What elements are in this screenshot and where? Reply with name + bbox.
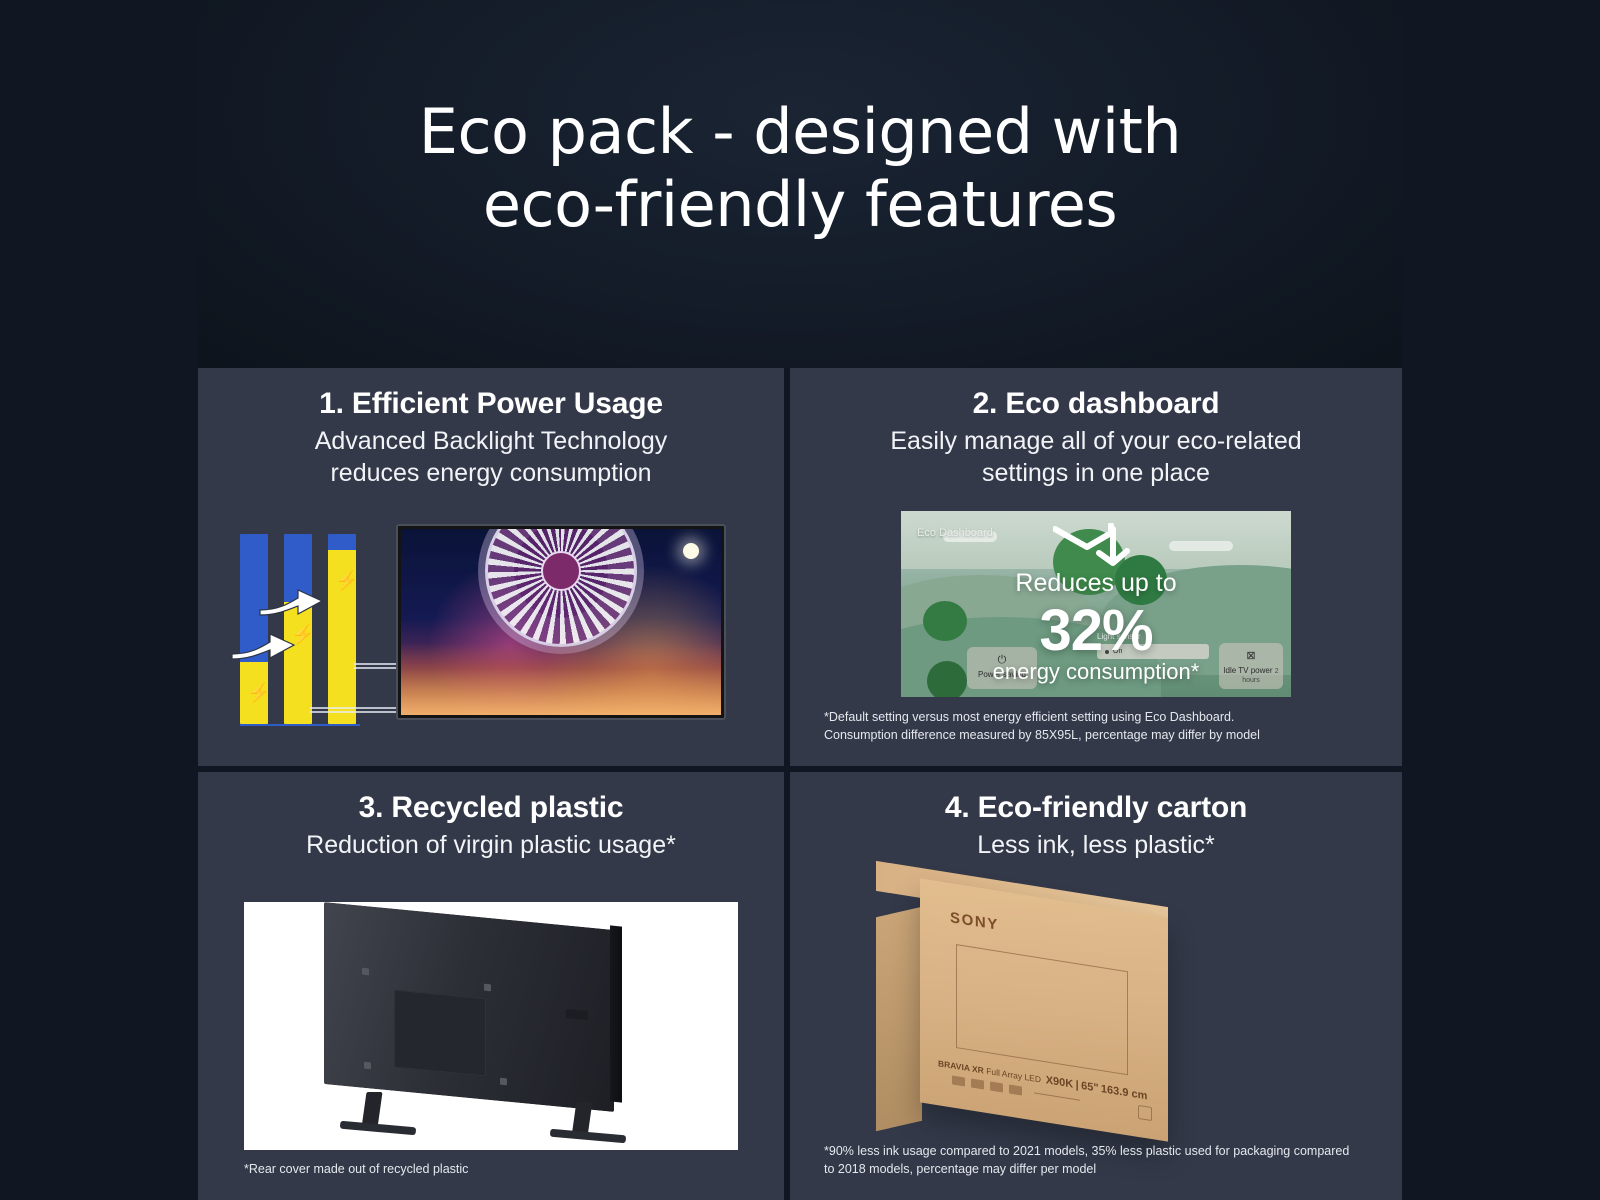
panel-3-title: 3. Recycled plastic (198, 790, 784, 826)
certification-icon (971, 1078, 984, 1089)
panel-2-subtitle-line-2: settings in one place (982, 459, 1210, 487)
eco-dashboard-screenshot: Eco Dashboard ⏻ Power saving Light senso… (901, 511, 1291, 697)
panel-2-subtitle-line-1: Easily manage all of your eco-related (890, 427, 1301, 455)
panel-4-header: 4. Eco-friendly carton Less ink, less pl… (790, 772, 1402, 862)
ferris-wheel-graphic (485, 529, 637, 647)
tv-rear-cover-image (244, 902, 738, 1150)
lightning-bolt-icon: ⚡ (335, 572, 349, 592)
tv-connector-housing (394, 990, 486, 1077)
overlay-line-3: energy consumption* (901, 659, 1291, 685)
tv-screen (401, 529, 721, 715)
television-image (396, 524, 726, 720)
carton-spec-size: 65" (1081, 1080, 1098, 1095)
arrow-right-icon (230, 632, 296, 662)
tv-stand (501, 718, 621, 720)
panel-1-title: 1. Efficient Power Usage (198, 386, 784, 422)
frame-right-margin (1402, 0, 1600, 1200)
panel-4-footnote-line-1: *90% less ink usage compared to 2021 mod… (824, 1142, 1388, 1160)
carton-spec-brand: BRAVIA XR (938, 1058, 984, 1075)
carton-front-face: SONY BRAVIA XR Full Array LED X90K | 65"… (920, 878, 1168, 1141)
screw-icon (362, 968, 369, 976)
ferris-wheel-hub (541, 551, 581, 591)
moon-icon (683, 543, 699, 559)
screw-icon (484, 984, 491, 992)
hero-banner: Eco pack - designed with eco-friendly fe… (0, 0, 1600, 368)
bar-2: ⚡ (284, 534, 312, 724)
panel-1-subtitle-line-1: Advanced Backlight Technology (315, 427, 668, 455)
arrow-right-icon (258, 588, 324, 618)
feature-grid: 1. Efficient Power Usage Advanced Backli… (198, 368, 1402, 1200)
tv-rear-edge (610, 925, 622, 1102)
panel-eco-friendly-carton: 4. Eco-friendly carton Less ink, less pl… (790, 772, 1402, 1200)
cloud-shape (1169, 541, 1233, 551)
panel-2-subtitle: Easily manage all of your eco-related se… (790, 426, 1402, 490)
page-title: Eco pack - designed with eco-friendly fe… (0, 96, 1600, 241)
panel-4-subtitle: Less ink, less plastic* (790, 830, 1402, 862)
eco-pack-infographic: Eco pack - designed with eco-friendly fe… (0, 0, 1600, 1200)
bar-1: ⚡ (240, 534, 268, 724)
panel-3-subtitle: Reduction of virgin plastic usage* (198, 830, 784, 862)
overlay-line-1: Reduces up to (901, 569, 1291, 598)
recycle-mark-icon (1138, 1105, 1152, 1121)
carton-box-image: SONY BRAVIA XR Full Array LED X90K | 65"… (790, 890, 1402, 1160)
divider (1034, 1092, 1080, 1100)
panel-2-footnote-line-1: *Default setting versus most energy effi… (824, 708, 1388, 726)
carton-spec-model: X90K (1046, 1074, 1074, 1090)
lightning-bolt-icon: ⚡ (247, 684, 261, 704)
power-usage-illustration: ⚡ ⚡ ⚡ (198, 516, 784, 746)
panel-4-footnote-line-2: to 2018 models, percentage may differ pe… (824, 1160, 1388, 1178)
panel-2-header: 2. Eco dashboard Easily manage all of yo… (790, 368, 1402, 490)
screw-icon (500, 1078, 507, 1086)
certification-icon (952, 1075, 965, 1086)
certification-icon (1009, 1084, 1022, 1095)
panel-4-title: 4. Eco-friendly carton (790, 790, 1402, 826)
panel-2-footnote-line-2: Consumption difference measured by 85X95… (824, 726, 1388, 744)
panel-eco-dashboard: 2. Eco dashboard Easily manage all of yo… (790, 368, 1402, 766)
bar-2-yellow (284, 602, 312, 724)
bar-3: ⚡ (328, 534, 356, 724)
panel-recycled-plastic: 3. Recycled plastic Reduction of virgin … (198, 772, 784, 1200)
panel-3-footnote: *Rear cover made out of recycled plastic (244, 1160, 770, 1178)
panel-3-footnote-line-1: *Rear cover made out of recycled plastic (244, 1160, 770, 1178)
carton-side-face (876, 907, 922, 1132)
tv-foot-left (501, 718, 517, 720)
panel-2-footnote: *Default setting versus most energy effi… (824, 708, 1388, 744)
panel-efficient-power-usage: 1. Efficient Power Usage Advanced Backli… (198, 368, 784, 766)
eco-dashboard-label: Eco Dashboard (917, 527, 993, 539)
carton-screen-outline (956, 944, 1128, 1075)
panel-1-header: 1. Efficient Power Usage Advanced Backli… (198, 368, 784, 490)
chart-baseline (240, 724, 360, 726)
overlay-percentage: 32% (901, 597, 1291, 664)
page-title-line-1: Eco pack - designed with (0, 96, 1600, 169)
screw-icon (364, 1062, 371, 1070)
cityscape-graphic (401, 643, 721, 715)
panel-2-title: 2. Eco dashboard (790, 386, 1402, 422)
panel-1-subtitle-line-2: reduces energy consumption (330, 459, 651, 487)
frame-left-margin (0, 0, 198, 1200)
panel-4-footnote: *90% less ink usage compared to 2021 mod… (824, 1142, 1388, 1178)
panel-3-header: 3. Recycled plastic Reduction of virgin … (198, 772, 784, 862)
tv-foot-right (605, 718, 621, 720)
page-title-line-2: eco-friendly features (0, 169, 1600, 242)
panel-1-subtitle: Advanced Backlight Technology reduces en… (198, 426, 784, 490)
sony-logo: SONY (950, 909, 999, 934)
certification-icon (990, 1081, 1003, 1092)
carton-spec-cm: 163.9 cm (1101, 1083, 1147, 1102)
